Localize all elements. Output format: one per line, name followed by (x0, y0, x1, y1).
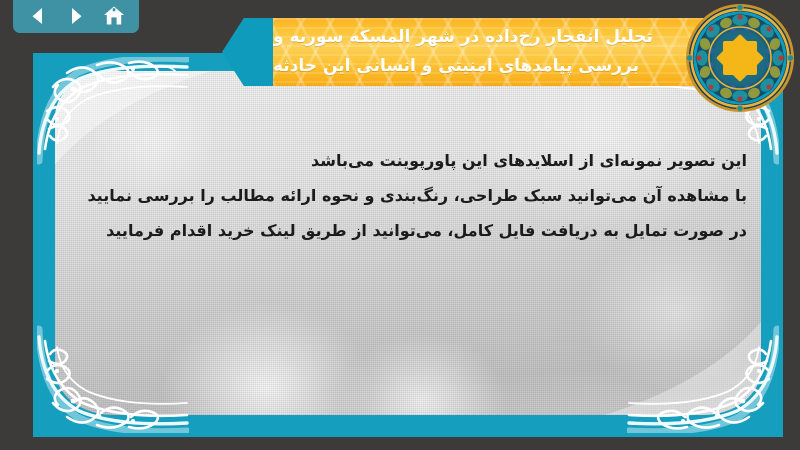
slide-viewer: این تصویر نمونه‌ای از اسلایدهای این پاور… (0, 0, 800, 450)
next-slide-button[interactable] (62, 3, 90, 29)
home-icon (103, 5, 125, 26)
title-line-2: بررسی پیامدهای امنیتی و انسانی این حادثه (273, 52, 639, 81)
home-button[interactable] (100, 3, 128, 29)
body-line-3: در صورت تمایل به دریافت فایل کامل، می‌تو… (93, 213, 747, 248)
slide-frame: این تصویر نمونه‌ای از اسلایدهای این پاور… (33, 53, 783, 437)
slide-body-text: این تصویر نمونه‌ای از اسلایدهای این پاور… (93, 143, 747, 248)
slide-title-banner: تحلیل انفجار رخ‌داده در شهر المسکه سوریه… (222, 18, 752, 86)
slide-title: تحلیل انفجار رخ‌داده در شهر المسکه سوریه… (273, 18, 752, 86)
triangle-left-icon (28, 6, 48, 26)
banner-arrow-shape (222, 18, 274, 86)
title-line-1: تحلیل انفجار رخ‌داده در شهر المسکه سوریه… (273, 23, 653, 52)
banner-body: تحلیل انفجار رخ‌داده در شهر المسکه سوریه… (273, 18, 752, 86)
body-line-1: این تصویر نمونه‌ای از اسلایدهای این پاور… (93, 143, 747, 178)
islamic-medallion-ornament (686, 4, 794, 112)
light-sweep-bottom-right (451, 235, 761, 415)
prev-slide-button[interactable] (24, 3, 52, 29)
body-line-2: با مشاهده آن می‌توانید سبک طراحی، رنگ‌بن… (93, 178, 747, 213)
triangle-right-icon (66, 6, 86, 26)
viewer-nav-bar (13, 0, 139, 33)
